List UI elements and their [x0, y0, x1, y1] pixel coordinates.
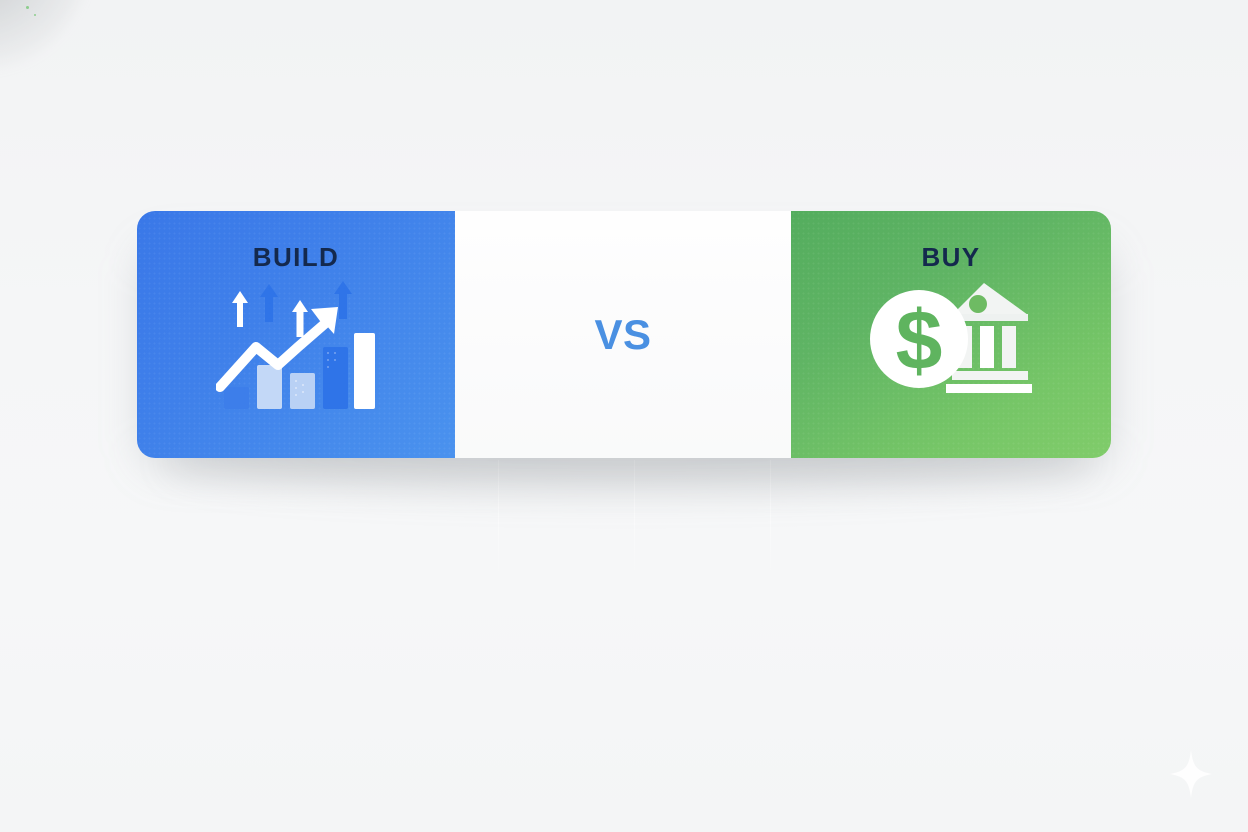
bar-1: [224, 387, 249, 409]
bar-5: [354, 333, 375, 409]
arrow-up-1: [232, 291, 248, 327]
arrow-up-2: [260, 284, 278, 322]
corner-dot-icon: [26, 6, 29, 9]
bank-column: [980, 326, 994, 368]
dollar-coin-bank-icon: $: [866, 281, 1036, 404]
build-vs-buy-card: BUILD: [137, 211, 1111, 458]
bank-step: [946, 384, 1032, 393]
bank-roof-window: [969, 295, 987, 313]
bar-2: [257, 365, 282, 409]
corner-dot-icon: [34, 14, 36, 16]
panel-build-title: BUILD: [253, 242, 339, 273]
panel-build[interactable]: BUILD: [137, 211, 455, 458]
growth-chart-icon: [216, 281, 376, 414]
bank-step: [952, 371, 1028, 380]
sparkle-icon: [1170, 750, 1212, 798]
panel-vs: VS: [455, 211, 791, 458]
vs-label: VS: [594, 311, 651, 359]
panel-buy[interactable]: BUY: [791, 211, 1111, 458]
dollar-coin: $: [870, 290, 968, 388]
bar-4: [323, 347, 348, 409]
arrow-up-3: [292, 300, 308, 337]
bank-column: [1002, 326, 1016, 368]
panel-buy-title: BUY: [921, 242, 980, 273]
bar-3: [290, 373, 315, 409]
svg-text:$: $: [896, 293, 943, 387]
